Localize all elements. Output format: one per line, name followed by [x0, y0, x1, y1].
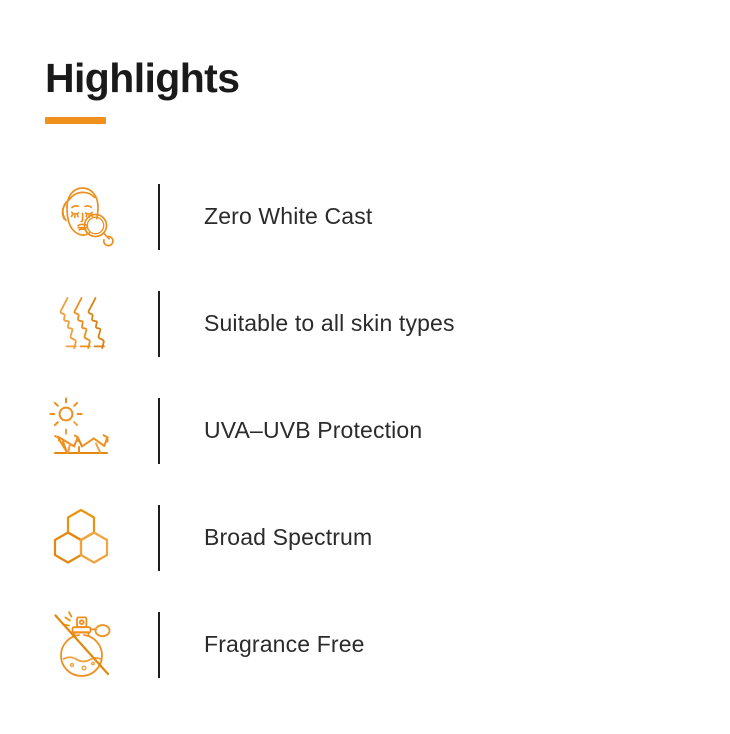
page-title: Highlights — [45, 54, 545, 102]
header: Highlights — [45, 54, 545, 124]
list-item: Fragrance Free — [0, 591, 730, 698]
list-item: Broad Spectrum — [0, 484, 730, 591]
list-item: Suitable to all skin types — [0, 270, 730, 377]
highlights-list: Zero White Cast — [0, 163, 730, 698]
title-underline-accent — [45, 117, 106, 124]
list-item: Zero White Cast — [0, 163, 730, 270]
hexagon-molecule-icon — [0, 498, 140, 578]
face-magnifier-icon — [0, 177, 140, 257]
list-item-label: Zero White Cast — [160, 203, 372, 230]
highlights-panel: Highlights — [0, 0, 730, 734]
list-item-label: UVA–UVB Protection — [160, 417, 422, 444]
three-face-profiles-icon — [0, 284, 140, 364]
list-item-label: Broad Spectrum — [160, 524, 372, 551]
sun-lounger-icon — [0, 391, 140, 471]
list-item-label: Fragrance Free — [160, 631, 365, 658]
list-item: UVA–UVB Protection — [0, 377, 730, 484]
perfume-bottle-crossed-icon — [0, 605, 140, 685]
list-item-label: Suitable to all skin types — [160, 310, 455, 337]
